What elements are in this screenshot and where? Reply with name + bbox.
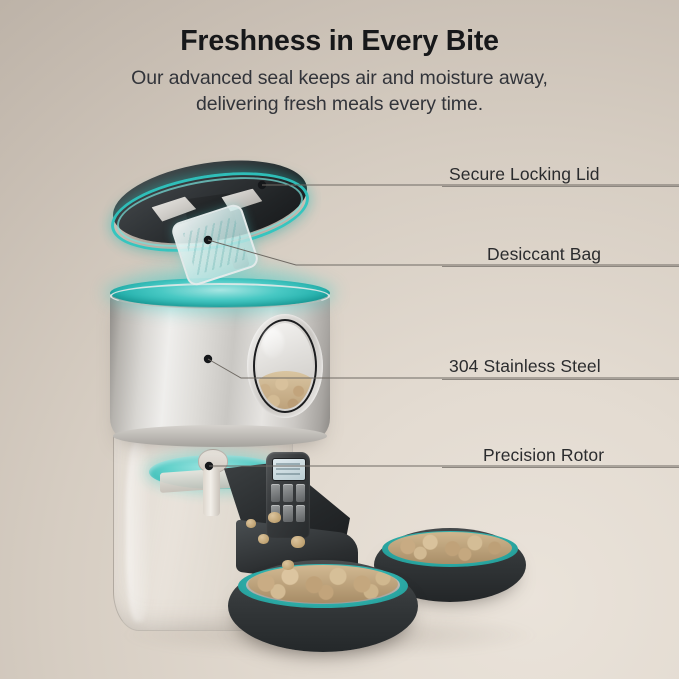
window-kibble — [257, 371, 313, 409]
hopper-rim-edge — [110, 283, 330, 309]
bowl-back-kibble — [388, 532, 512, 564]
keypad-button[interactable] — [296, 505, 305, 523]
keypad-button[interactable] — [271, 484, 280, 502]
callout-label-stainless-steel: 304 Stainless Steel — [449, 356, 601, 377]
falling-kibble — [258, 534, 269, 544]
desiccant-texture — [183, 217, 248, 276]
header: Freshness in Every Bite Our advanced sea… — [0, 24, 679, 118]
callout-label-desiccant-bag: Desiccant Bag — [487, 244, 601, 265]
callout-rule-secure-locking-lid — [442, 186, 679, 187]
subtitle-line-1: Our advanced seal keeps air and moisture… — [0, 66, 679, 92]
lcd-display — [272, 458, 306, 481]
callout-rule-stainless-steel — [442, 379, 679, 380]
window-highlight — [262, 328, 284, 358]
falling-kibble — [282, 560, 294, 570]
callout-label-precision-rotor: Precision Rotor — [483, 445, 604, 466]
keypad-button[interactable] — [283, 505, 292, 523]
hopper-base — [113, 425, 327, 447]
callout-rule-desiccant-bag — [442, 266, 679, 267]
lcd-segments — [276, 463, 300, 475]
rotor-shaft — [203, 468, 220, 516]
falling-kibble — [246, 519, 256, 528]
callout-label-secure-locking-lid: Secure Locking Lid — [449, 164, 600, 185]
housing-highlight — [126, 440, 152, 622]
page-subtitle: Our advanced seal keeps air and moisture… — [0, 66, 679, 118]
page-title: Freshness in Every Bite — [0, 24, 679, 58]
infographic-page: Freshness in Every Bite Our advanced sea… — [0, 0, 679, 679]
callout-rule-precision-rotor — [442, 467, 679, 468]
falling-kibble — [291, 536, 305, 548]
subtitle-line-2: delivering fresh meals every time. — [0, 92, 679, 118]
falling-kibble — [268, 512, 281, 523]
bowl-front-kibble — [248, 565, 398, 603]
keypad-button[interactable] — [283, 484, 292, 502]
keypad-button[interactable] — [296, 484, 305, 502]
